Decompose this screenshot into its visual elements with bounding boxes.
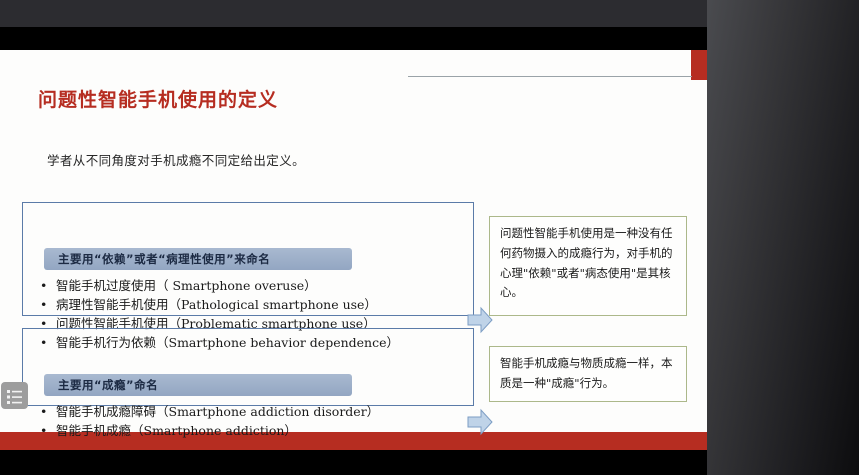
naming-group-1-header: 主要用“依赖”或者“病理性使用”来命名 [44, 248, 352, 270]
list-item: •智能手机过度使用（ Smartphone overuse） [40, 276, 399, 295]
bullet-marker-icon: • [40, 276, 56, 295]
list-item-label: 智能手机成瘾（Smartphone addiction） [56, 423, 297, 438]
definition-callout-1: 问题性智能手机使用是一种没有任何药物摄入的成瘾行为，对手机的心理"依赖"或者"病… [489, 216, 687, 316]
naming-group-2-header-label: 主要用“成瘾”命名 [58, 377, 158, 393]
arrow-right-icon [467, 408, 493, 436]
bullet-marker-icon: • [40, 295, 56, 314]
meeting-top-bar [0, 0, 707, 27]
screenshare-letterbox-top [0, 27, 707, 50]
naming-group-2-header: 主要用“成瘾”命名 [44, 374, 352, 396]
list-item: •病理性智能手机使用（Pathological smartphone use） [40, 295, 399, 314]
screen-root: 杨海波 问题性智能手机使用的定义 学者从不同角度对手机成瘾不同定给出定义。 主要… [0, 0, 859, 475]
definition-callout-2: 智能手机成瘾与物质成瘾一样，本质是一种"成瘾"行为。 [489, 346, 687, 402]
slide-accent-block [691, 50, 707, 80]
list-item: •智能手机成瘾（Smartphone addiction） [40, 421, 379, 440]
slide-title-rule [408, 76, 692, 77]
list-menu-icon[interactable] [1, 382, 28, 409]
bullet-marker-icon: • [40, 402, 56, 421]
list-item-label: 智能手机成瘾障碍（Smartphone addiction disorder） [56, 404, 379, 419]
participant-strip[interactable]: 杨海波 [707, 0, 859, 475]
list-item-label: 智能手机过度使用（ Smartphone overuse） [56, 278, 317, 293]
presentation-slide[interactable]: 问题性智能手机使用的定义 学者从不同角度对手机成瘾不同定给出定义。 主要用“依赖… [0, 50, 707, 450]
naming-group-2-list: •智能手机成瘾障碍（Smartphone addiction disorder）… [40, 402, 379, 440]
list-item: •智能手机成瘾障碍（Smartphone addiction disorder） [40, 402, 379, 421]
screenshare-letterbox-bottom [0, 450, 707, 475]
slide-title: 问题性智能手机使用的定义 [38, 85, 278, 112]
list-item-label: 病理性智能手机使用（Pathological smartphone use） [56, 297, 377, 312]
bullet-marker-icon: • [40, 421, 56, 440]
slide-subtitle: 学者从不同角度对手机成瘾不同定给出定义。 [47, 150, 305, 169]
naming-group-1-header-label: 主要用“依赖”或者“病理性使用”来命名 [58, 251, 270, 267]
